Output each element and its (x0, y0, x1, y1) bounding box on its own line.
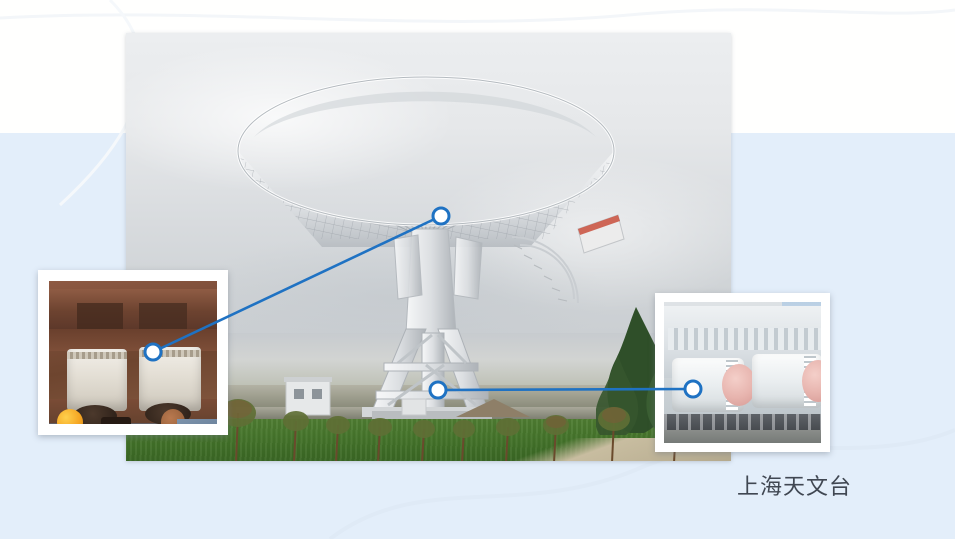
bolt-flange (67, 352, 127, 359)
slide-canvas: 上海天文台 (0, 0, 955, 539)
bolt-flange (139, 350, 201, 357)
pink-end-cap-front (722, 364, 756, 406)
beam-recess (77, 303, 123, 331)
caption-observatory-name: 上海天文台 (737, 469, 852, 501)
beam-recess (139, 303, 187, 331)
new-bearing-assembly-photo (655, 293, 830, 452)
motor-cylinder-left (67, 349, 127, 411)
dark-equipment (101, 417, 131, 424)
steel-beam (49, 289, 217, 329)
motor-cylinder-right (139, 347, 201, 411)
old-bearing-assembly-photo (38, 270, 228, 435)
inset-image-new (664, 302, 821, 443)
gravel-ground (664, 430, 821, 443)
inset-image-old (49, 281, 217, 424)
cooling-fins (668, 328, 821, 350)
worker-body (177, 419, 217, 424)
